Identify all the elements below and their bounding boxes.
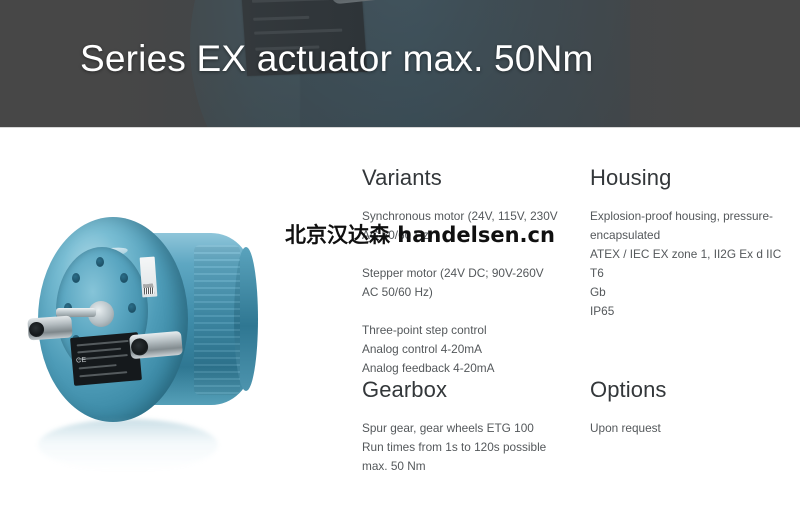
product-image: CE [8,205,298,450]
variants-line-5: Three-point step control [362,321,576,340]
gearbox-line-2: Run times from 1s to 120s possible [362,438,576,457]
variants-line-3: Stepper motor (24V DC; 90V-260V [362,264,576,283]
housing-line-3: ATEX / IEC EX zone 1, II2G Ex d IIC T6 [590,245,796,283]
product-reflection [38,419,218,471]
hero-banner: Series EX actuator max. 50Nm [0,0,800,128]
section-variants: Variants Synchronous motor (24V, 115V, 2… [362,166,576,378]
actuator-cable-gland-left [27,315,72,340]
ce-marking-icon: CE [76,356,97,366]
variants-line-4: AC 50/60 Hz) [362,283,576,302]
housing-line-1: Explosion-proof housing, pressure- [590,207,796,226]
section-body-housing: Explosion-proof housing, pressure- encap… [590,207,796,321]
spacer [362,302,576,321]
section-body-gearbox: Spur gear, gear wheels ETG 100 Run times… [362,419,576,476]
housing-line-2: encapsulated [590,226,796,245]
hero-divider [0,127,800,128]
product-datasheet-page: Series EX actuator max. 50Nm CE [0,0,800,505]
section-gearbox: Gearbox Spur gear, gear wheels ETG 100 R… [362,378,576,476]
page-title: Series EX actuator max. 50Nm [80,38,594,80]
watermark-text: 北京汉达森 handelsen.cn [285,219,555,249]
section-title-housing: Housing [590,166,796,190]
housing-line-4: Gb [590,283,796,302]
variants-line-7: Analog feedback 4-20mA [362,359,576,378]
options-line-1: Upon request [590,419,796,438]
section-options: Options Upon request [590,378,796,438]
section-title-gearbox: Gearbox [362,378,576,402]
section-title-options: Options [590,378,796,402]
section-title-variants: Variants [362,166,576,190]
gearbox-line-1: Spur gear, gear wheels ETG 100 [362,419,576,438]
actuator-barcode-label [140,257,158,298]
housing-line-5: IP65 [590,302,796,321]
variants-line-6: Analog control 4-20mA [362,340,576,359]
section-body-options: Upon request [590,419,796,438]
actuator-cable-gland-front [129,331,183,359]
actuator-cooling-ribs [194,245,240,395]
section-housing: Housing Explosion-proof housing, pressur… [590,166,796,321]
gearbox-line-3: max. 50 Nm [362,457,576,476]
